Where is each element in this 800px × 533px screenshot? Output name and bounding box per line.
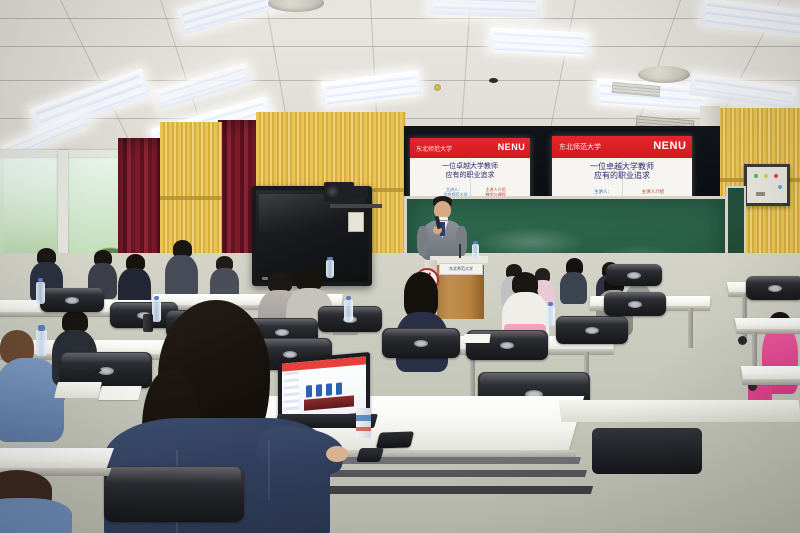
ceiling-light-panel xyxy=(489,27,588,54)
camera-housing-secondary xyxy=(352,186,368,198)
ceiling-light-panel xyxy=(701,0,800,37)
slide-subtext-right: 主讲人介绍 xyxy=(642,189,665,195)
audience-student xyxy=(560,258,588,302)
ceiling-light-panel xyxy=(430,0,541,18)
university-logo-text: 东北师范大学 xyxy=(416,144,452,153)
ceiling-recording-camera xyxy=(324,182,354,202)
camera-mount-arm xyxy=(330,204,382,208)
water-bottle xyxy=(36,330,47,356)
water-bottle xyxy=(546,306,555,326)
wallet-on-desk[interactable] xyxy=(356,448,384,462)
wall-port-plate xyxy=(348,212,364,232)
podium-microphone xyxy=(459,244,461,258)
water-bottle xyxy=(326,260,334,278)
ceiling-light-panel xyxy=(154,62,252,109)
classroom-desk xyxy=(558,400,800,422)
water-bottle xyxy=(472,244,479,258)
drink-carton xyxy=(356,408,371,438)
water-bottle xyxy=(344,300,353,322)
ceiling-speaker xyxy=(638,66,690,83)
ceiling-speaker xyxy=(268,0,324,12)
slide-title-line2: 应有的职业追求 xyxy=(410,171,530,180)
smartphone-on-desk[interactable] xyxy=(376,431,414,448)
classroom-chair[interactable] xyxy=(40,288,104,312)
slide-title-line2: 应有的职业追求 xyxy=(552,171,692,182)
classroom-chair[interactable] xyxy=(104,466,244,522)
audience-student xyxy=(165,240,199,296)
classroom-chair[interactable] xyxy=(382,328,460,358)
open-notebook xyxy=(54,382,102,398)
nenu-brand-label: NENU xyxy=(498,142,526,152)
classroom-photo: 东北师范大学 NENU 一位卓越大学教师 应有的职业追求 主讲人： 北京师范大学… xyxy=(0,0,800,533)
audience-student xyxy=(0,470,72,533)
classroom-chair[interactable] xyxy=(592,428,702,474)
smoke-detector-icon xyxy=(489,78,498,83)
sprinkler-head-icon xyxy=(434,84,441,91)
wall-control-panel[interactable] xyxy=(744,164,790,206)
classroom-chair[interactable] xyxy=(604,292,666,316)
university-logo-text: 东北师范大学 xyxy=(559,142,601,152)
classroom-chair[interactable] xyxy=(746,276,800,300)
foreground-student-hand xyxy=(326,446,348,462)
loose-papers xyxy=(98,386,141,400)
slide-subtext-left: 主讲人： xyxy=(594,189,612,195)
loose-papers xyxy=(464,334,491,343)
classroom-chair[interactable] xyxy=(556,316,628,344)
nenu-brand-label: NENU xyxy=(653,140,686,152)
classroom-chair[interactable] xyxy=(606,264,662,286)
projection-screen-left: 东北师范大学 NENU 一位卓越大学教师 应有的职业追求 主讲人： 北京师范大学… xyxy=(410,138,530,204)
water-bottle xyxy=(36,282,45,304)
ceiling-light-panel xyxy=(321,70,421,106)
classroom-desk xyxy=(0,448,114,470)
